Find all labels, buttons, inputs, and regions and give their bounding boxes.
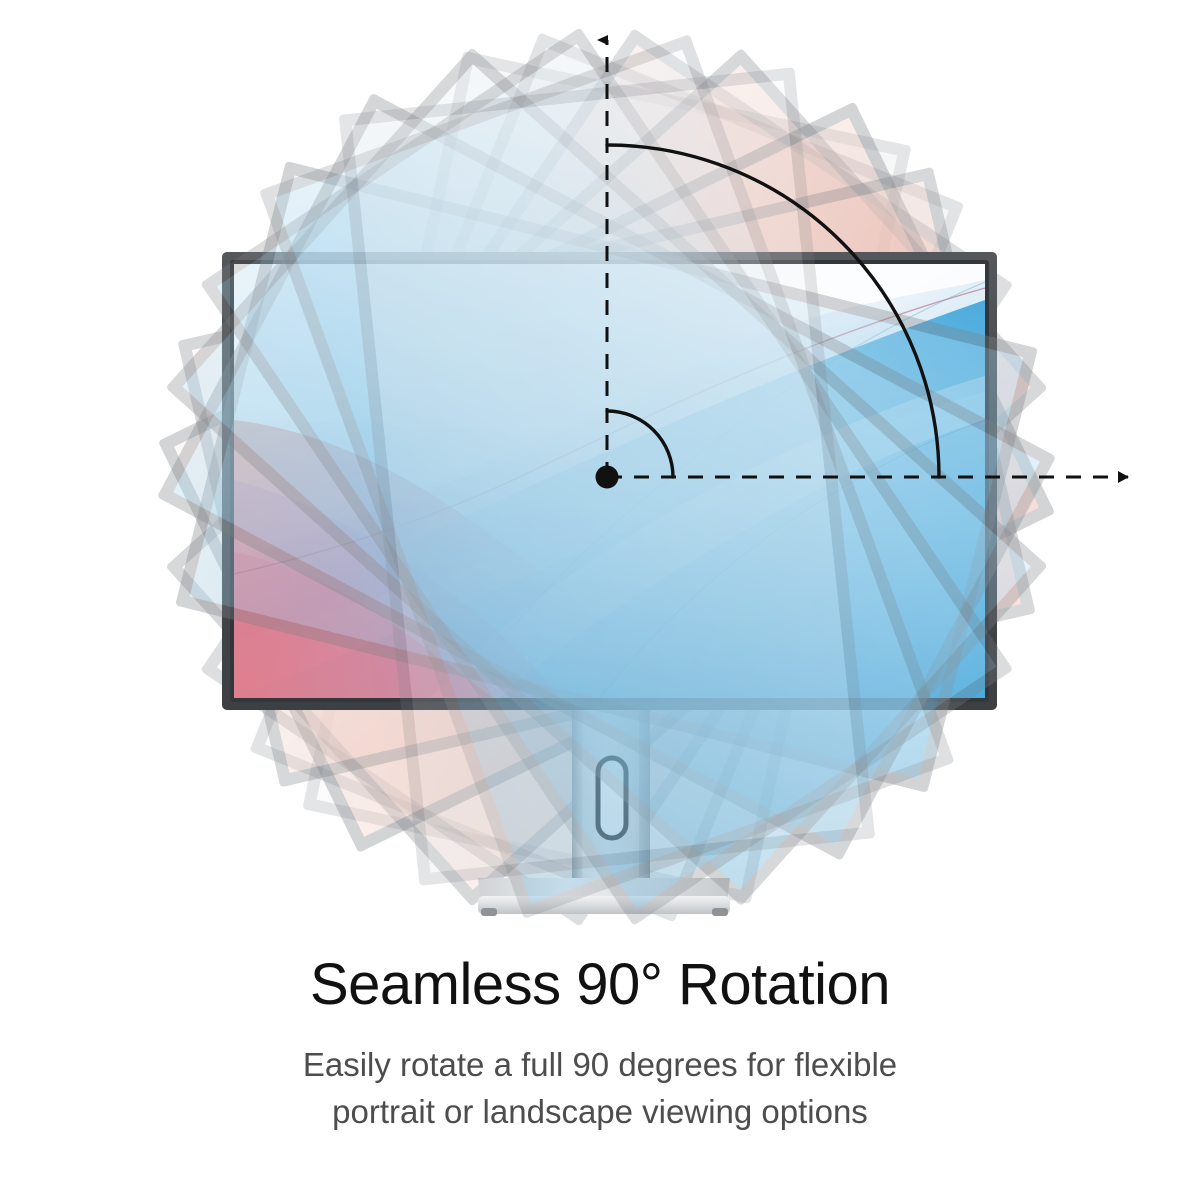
caption-block: Seamless 90° Rotation Easily rotate a fu… bbox=[0, 955, 1200, 1136]
monitor-rotation-illustration bbox=[0, 0, 1200, 940]
rotation-pivot-dot bbox=[596, 466, 619, 489]
subtitle-line-2: portrait or landscape viewing options bbox=[0, 1089, 1200, 1136]
rotation-feature-panel: Seamless 90° Rotation Easily rotate a fu… bbox=[0, 0, 1200, 1200]
page-title: Seamless 90° Rotation bbox=[0, 955, 1200, 1016]
subtitle-line-1: Easily rotate a full 90 degrees for flex… bbox=[0, 1042, 1200, 1089]
subtitle: Easily rotate a full 90 degrees for flex… bbox=[0, 1042, 1200, 1136]
